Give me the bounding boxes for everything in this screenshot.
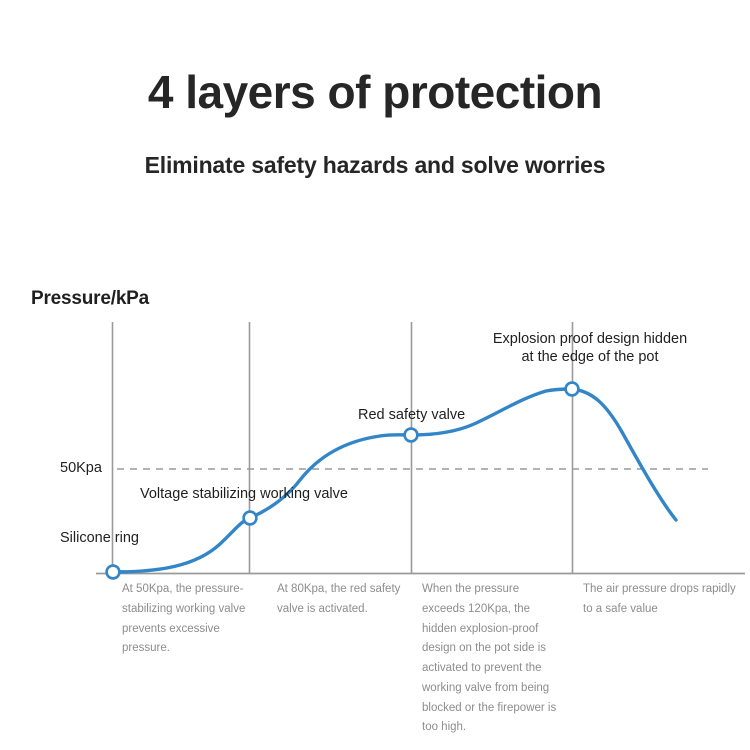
data-point-red-safety-valve[interactable] [405,429,418,442]
data-point-markers [107,383,579,579]
chart-canvas [0,0,750,750]
point-label-red-safety-valve: Red safety valve [358,406,465,424]
data-point-explosion-proof[interactable] [566,383,579,396]
stage-caption-4: The air pressure drops rapidly to a safe… [583,580,738,620]
threshold-label-50kpa: 50Kpa [60,460,102,476]
stage-caption-3: When the pressure exceeds 120Kpa, the hi… [422,580,562,738]
data-point-silicone-ring[interactable] [107,566,120,579]
stage-caption-2: At 80Kpa, the red safety valve is activa… [277,580,402,620]
point-label-voltage-stabilizing-valve: Voltage stabilizing working valve [140,485,348,503]
explosion-proof-line-1: Explosion proof design hidden [470,330,710,348]
point-label-silicone-ring: Silicone ring [60,529,139,547]
pressure-chart: Pressure/kPa 50Kpa Silicone ring Voltage… [0,0,750,750]
explosion-proof-line-2: at the edge of the pot [470,348,710,366]
data-point-voltage-stabilizing-valve[interactable] [244,512,257,525]
y-axis-title: Pressure/kPa [31,288,149,310]
stage-caption-1: At 50Kpa, the pressure-stabilizing worki… [122,580,257,659]
point-label-explosion-proof: Explosion proof design hidden at the edg… [470,330,710,366]
